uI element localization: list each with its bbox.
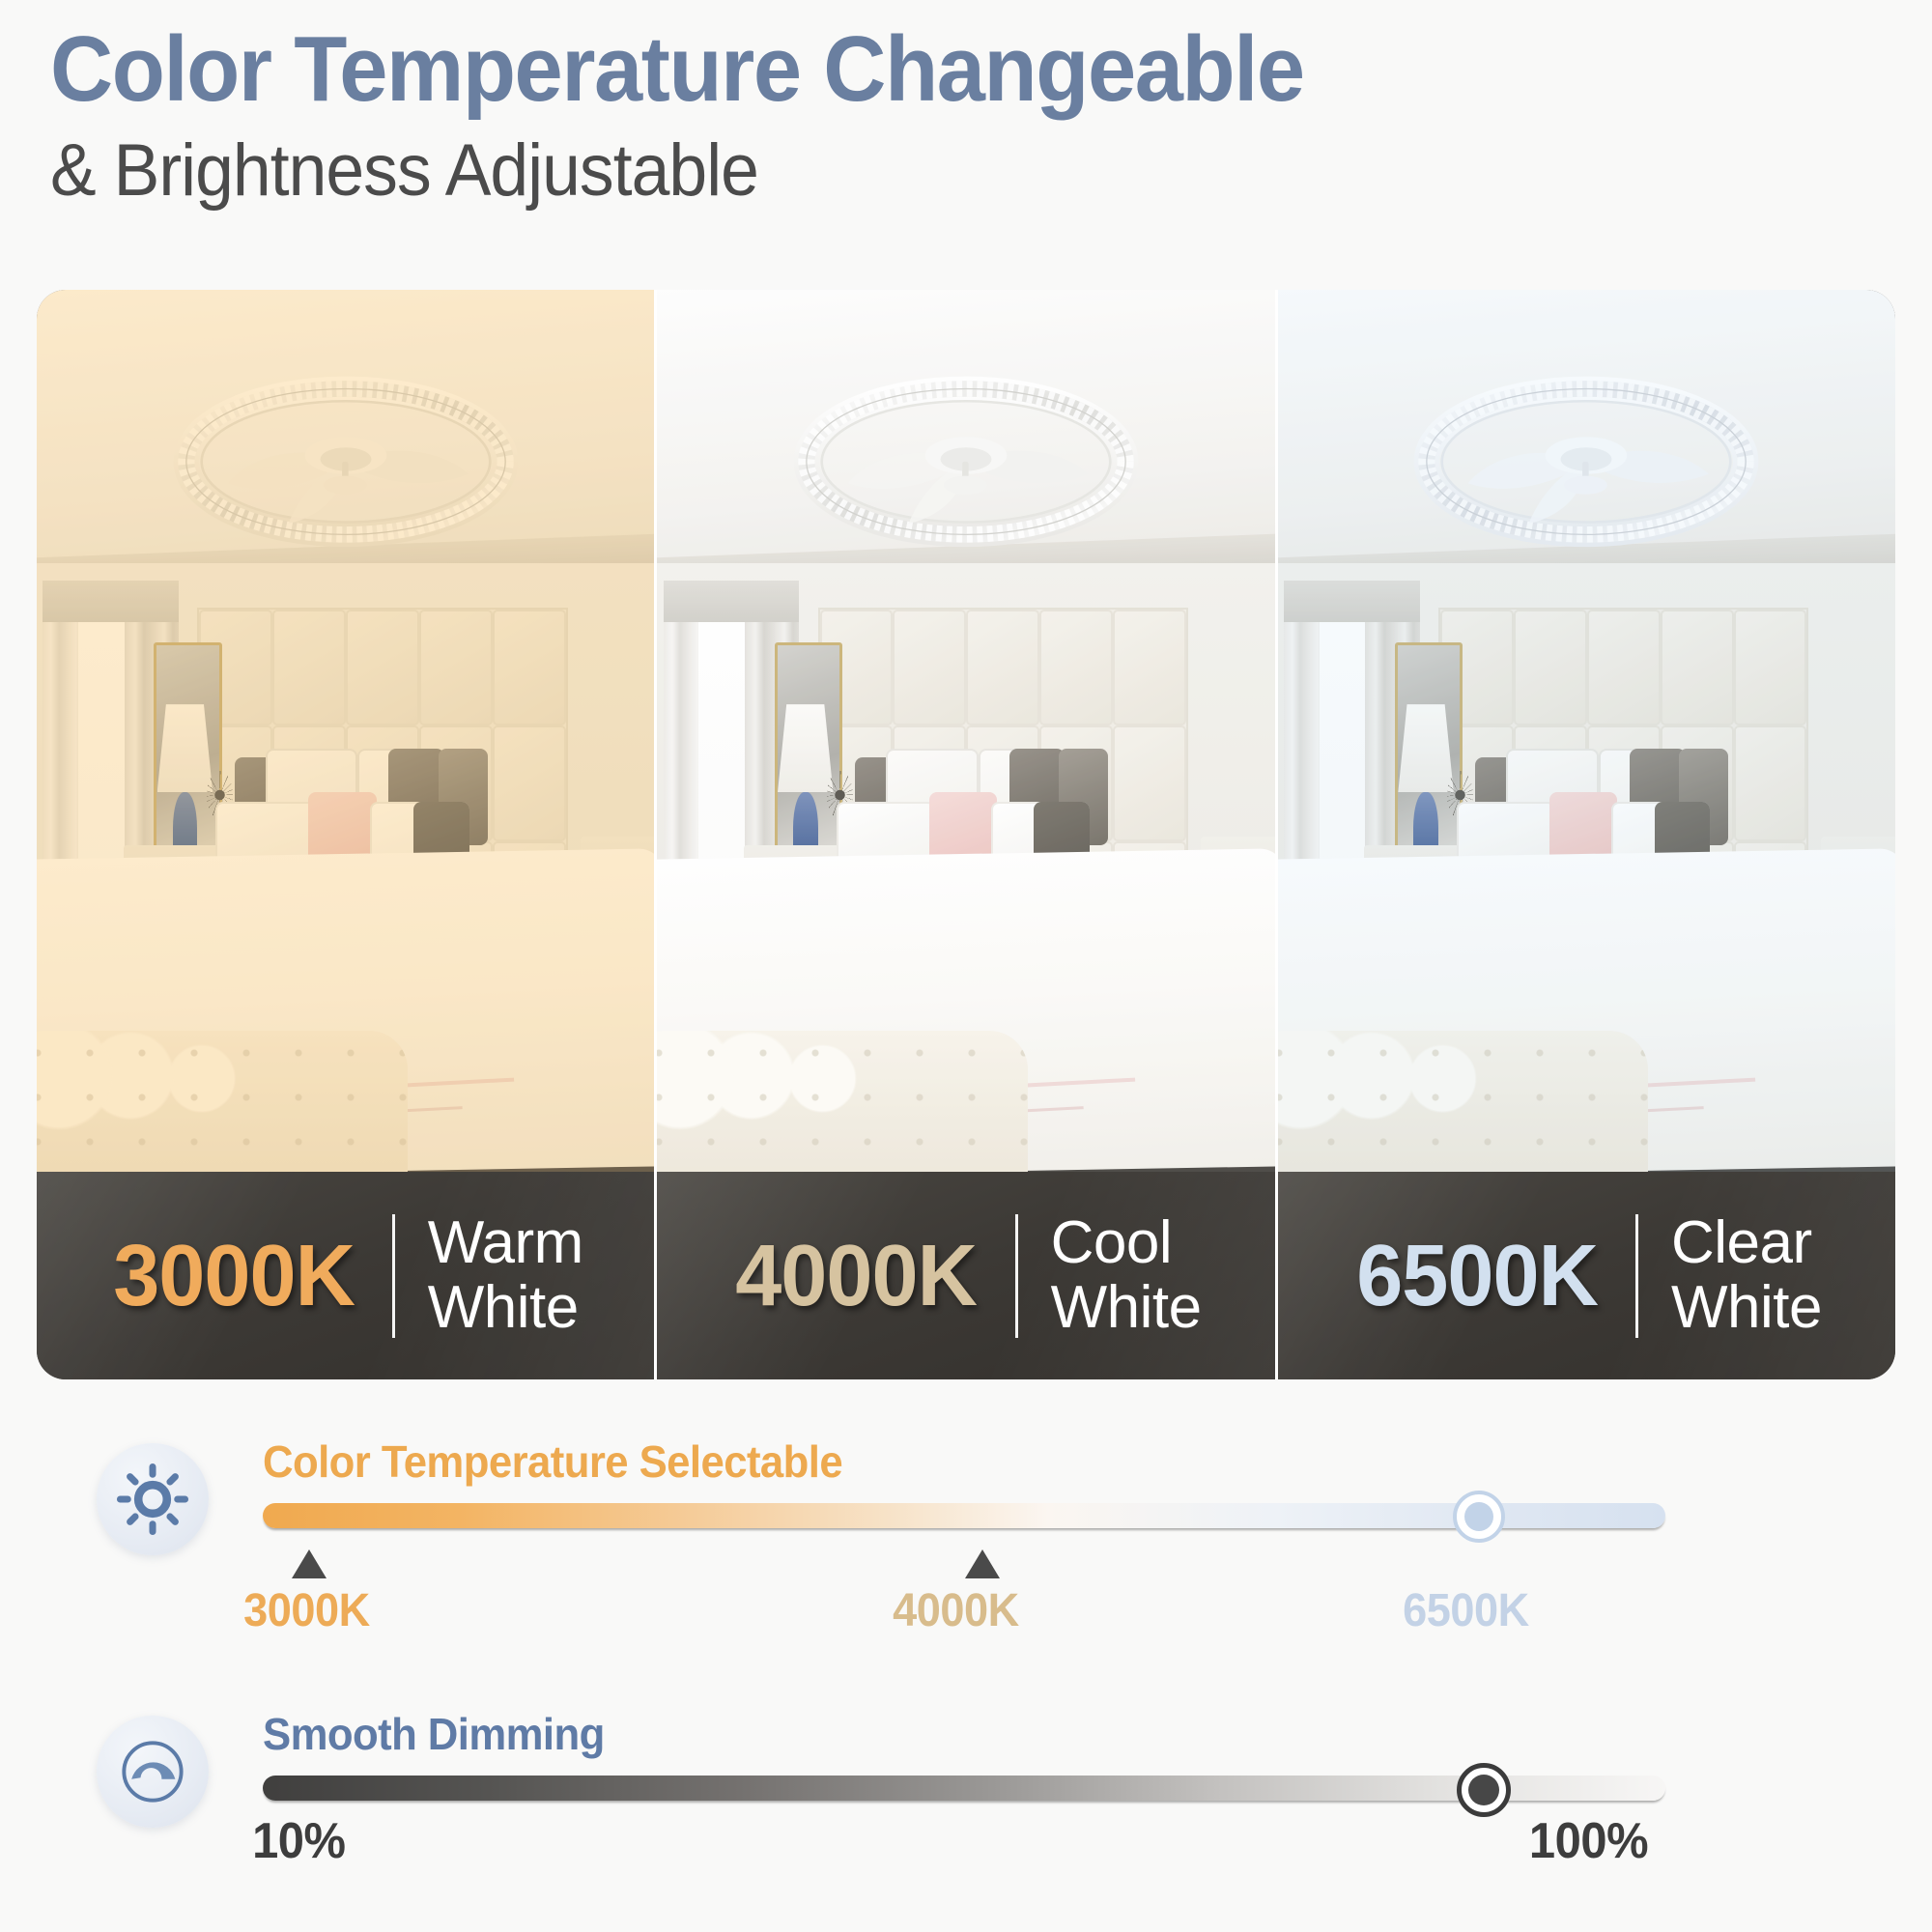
panel-3000k: 3000K Warm White	[37, 290, 654, 1379]
product-feature-page: Color Temperature Changeable & Brightnes…	[0, 0, 1932, 1932]
marker-3000k	[292, 1549, 327, 1578]
value-4000k: 4000K	[893, 1588, 1019, 1634]
color-temperature-title: Color Temperature Selectable	[263, 1439, 1794, 1484]
sun-icon	[115, 1462, 190, 1537]
caption-divider	[1635, 1214, 1638, 1338]
caption-3000k: 3000K Warm White	[37, 1172, 654, 1379]
color-temperature-track-wrap[interactable]	[263, 1499, 1874, 1544]
value-3000k: 3000K	[243, 1588, 370, 1634]
dimmer-dial-icon	[115, 1734, 190, 1809]
caption-divider	[392, 1214, 395, 1338]
dimming-slider-row: Smooth Dimming 10% 100%	[97, 1712, 1874, 1888]
kelvin-value-4000k: 4000K	[736, 1233, 978, 1320]
color-temperature-comparison-card: 3000K Warm White	[37, 290, 1895, 1379]
bedroom-scene-cool	[1278, 290, 1895, 1172]
value-6500k: 6500K	[1403, 1588, 1529, 1634]
panel-6500k: 6500K Clear White	[1275, 290, 1895, 1379]
caption-4000k: 4000K Cool White	[657, 1172, 1274, 1379]
bedroom-scene-neutral	[657, 290, 1274, 1172]
kelvin-name-3000k: Warm White	[428, 1211, 583, 1340]
page-subtitle: & Brightness Adjustable	[50, 132, 1776, 210]
color-temperature-slider-body: Color Temperature Selectable 3000K 4000K…	[263, 1439, 1874, 1660]
dimming-title: Smooth Dimming	[263, 1712, 1794, 1756]
ceiling-fan-fixture	[1395, 369, 1777, 554]
marker-4000k	[965, 1549, 1000, 1578]
caption-6500k: 6500K Clear White	[1278, 1172, 1895, 1379]
color-temperature-markers	[263, 1544, 1874, 1588]
bedroom-scene-warm	[37, 290, 654, 1172]
ceiling-fan-fixture	[775, 369, 1157, 554]
color-temperature-slider-row: Color Temperature Selectable 3000K 4000K…	[97, 1439, 1874, 1660]
kelvin-value-3000k: 3000K	[113, 1233, 355, 1320]
dimming-min-label: 10%	[252, 1816, 345, 1866]
kelvin-name-6500k: Clear White	[1671, 1211, 1822, 1340]
dimming-track-wrap[interactable]	[263, 1772, 1874, 1816]
kelvin-value-6500k: 6500K	[1356, 1233, 1598, 1320]
dimming-slider-body: Smooth Dimming 10% 100%	[263, 1712, 1874, 1888]
heading-block: Color Temperature Changeable & Brightnes…	[50, 21, 1886, 210]
dimming-knob[interactable]	[1457, 1763, 1511, 1817]
dimmer-dial-icon-badge	[97, 1716, 209, 1828]
color-temperature-knob[interactable]	[1453, 1491, 1505, 1543]
page-title: Color Temperature Changeable	[50, 21, 1776, 119]
kelvin-name-4000k: Cool White	[1051, 1211, 1202, 1340]
ceiling-fan-fixture	[154, 369, 536, 554]
dimming-values: 10% 100%	[263, 1816, 1665, 1888]
dimming-track[interactable]	[263, 1776, 1665, 1801]
caption-divider	[1015, 1214, 1018, 1338]
sun-icon-badge	[97, 1443, 209, 1555]
dimming-max-label: 100%	[1529, 1816, 1648, 1866]
color-temperature-values: 3000K 4000K 6500K	[263, 1588, 1874, 1660]
panel-4000k: 4000K Cool White	[654, 290, 1274, 1379]
